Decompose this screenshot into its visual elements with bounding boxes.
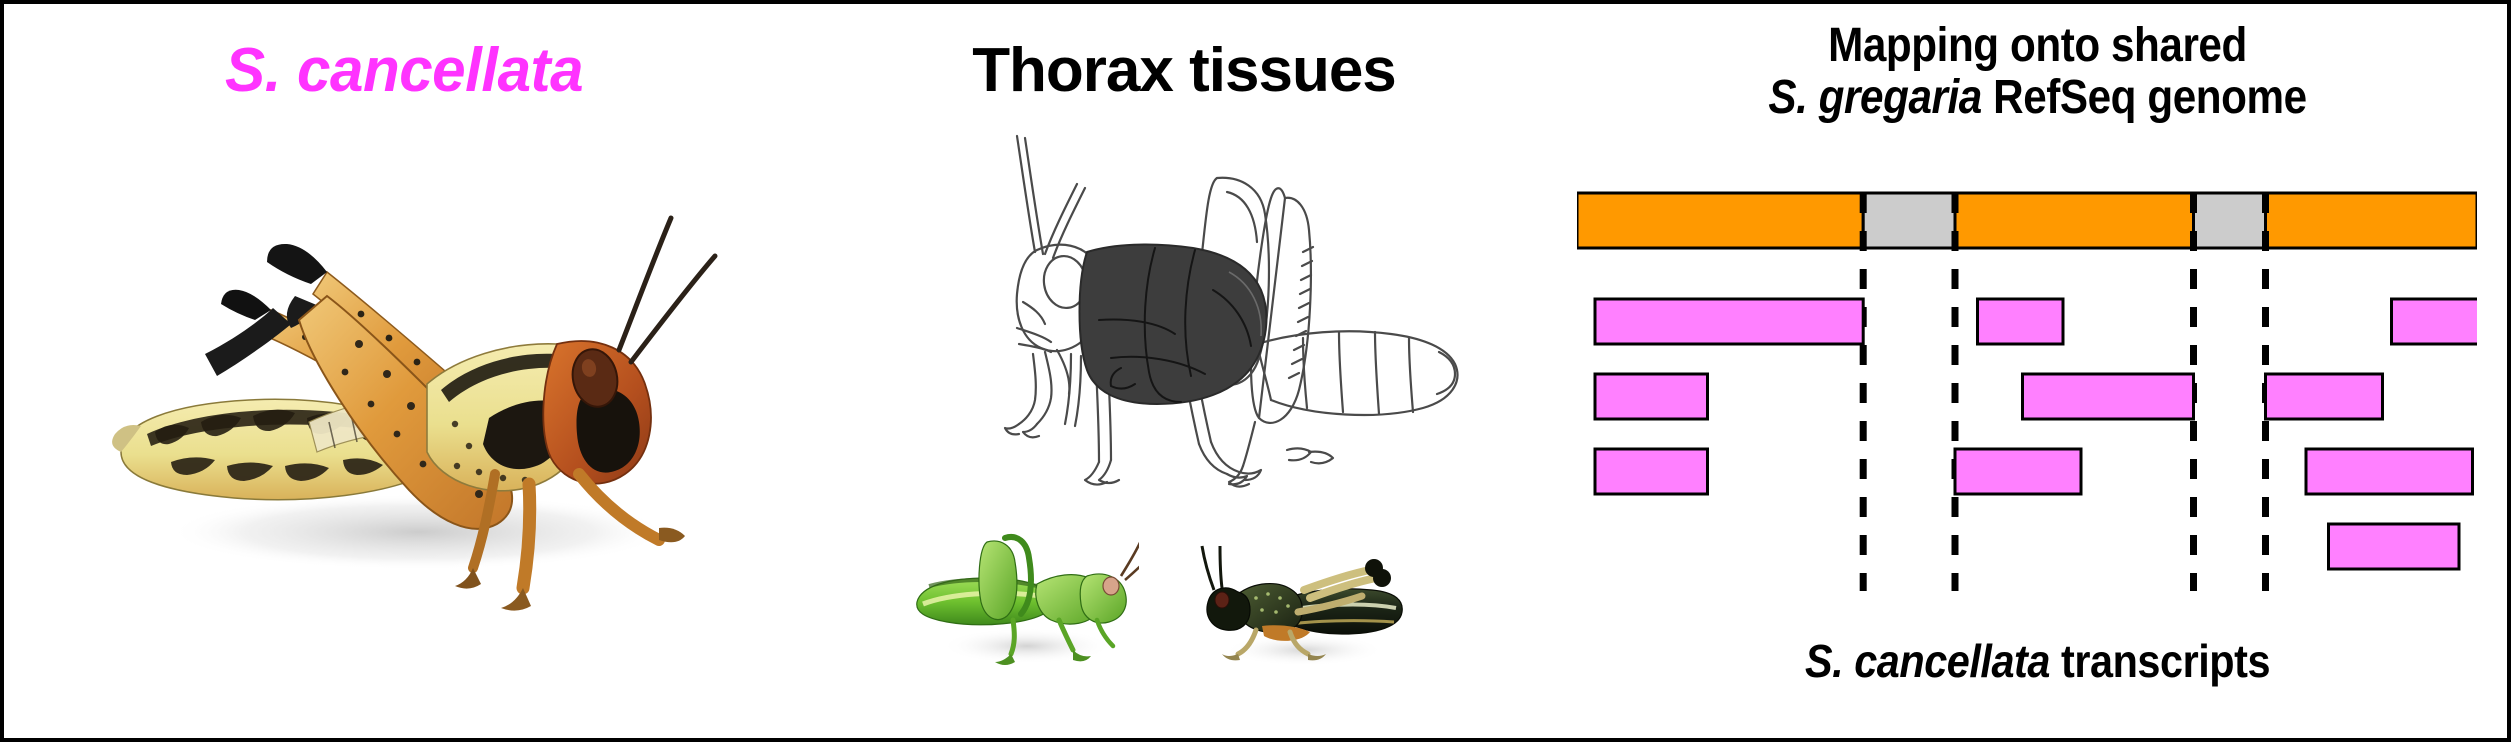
green-nymph-photo (909, 524, 1139, 674)
transcripts-caption-rest: transcripts (2061, 635, 2270, 687)
grasshopper-line-drawing (899, 132, 1509, 492)
transcript-block (1595, 299, 1863, 344)
thorax-tissues-panel: Thorax tissues (804, 4, 1564, 738)
transcript-block (2266, 374, 2383, 419)
species-title: S. cancellata (16, 40, 792, 102)
thorax-shaded-region (1080, 245, 1267, 404)
transcript-block (1595, 374, 1708, 419)
transcripts-caption: S. cancellata transcripts (1611, 634, 2463, 688)
species-panel: S. cancellata (4, 4, 804, 738)
mapping-title: Mapping onto shared S. gregaria RefSeq g… (1621, 22, 2454, 122)
schistocerca-cancellata-photo (59, 122, 759, 622)
transcript-block (2392, 299, 2478, 344)
graphical-abstract-figure: S. cancellata (0, 0, 2511, 742)
genome-segment (1955, 193, 2194, 248)
transcript-block (1955, 449, 2081, 494)
thorax-tissues-title: Thorax tissues (804, 40, 1564, 102)
genome-mapping-diagram (1577, 189, 2477, 609)
transcript-block (1595, 449, 1708, 494)
transcripts-caption-species: S. cancellata (1805, 635, 2050, 687)
genome-segment (2266, 193, 2478, 248)
mapping-panel: Mapping onto shared S. gregaria RefSeq g… (1564, 4, 2511, 738)
dark-nymph-photo (1194, 532, 1409, 677)
mapping-title-species: S. gregaria (1768, 71, 1981, 124)
mapping-title-line2: S. gregaria RefSeq genome (1621, 74, 2454, 122)
transcript-block (2023, 374, 2194, 419)
transcript-block (1978, 299, 2064, 344)
mapping-title-line2-rest: RefSeq genome (1993, 71, 2307, 124)
transcript-block (2329, 524, 2460, 569)
transcript-block (2306, 449, 2473, 494)
genome-segment (1577, 193, 1863, 248)
genome-gap-segment (1863, 193, 1955, 248)
mapping-title-line1: Mapping onto shared (1621, 22, 2454, 70)
genome-gap-segment (2194, 193, 2266, 248)
